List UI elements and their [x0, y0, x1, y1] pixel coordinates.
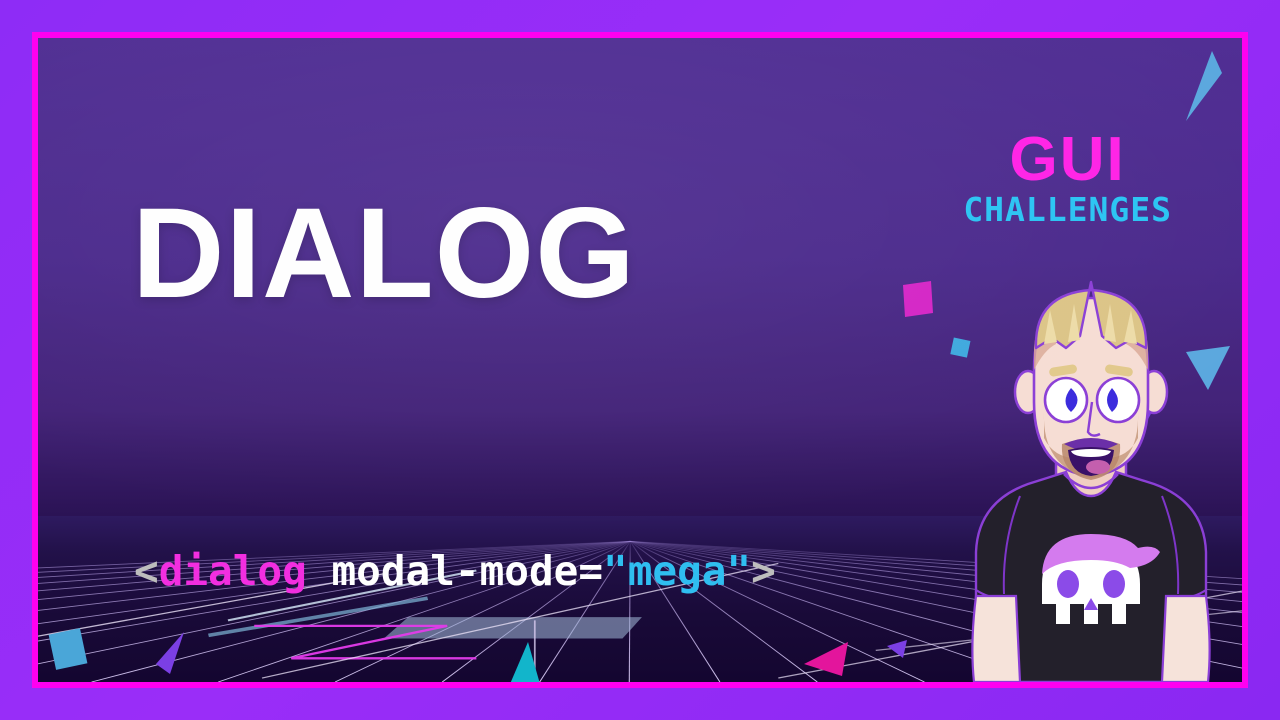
purple-triangle-bottom-left-icon	[148, 626, 198, 682]
code-attr-name: modal-mode	[331, 547, 578, 595]
code-tag-name: dialog	[159, 547, 307, 595]
code-sample: <dialog modal-mode="mega"> <dialog modal…	[134, 431, 776, 682]
magenta-frame-border: DIALOG <dialog modal-mode="mega"> <dialo…	[32, 32, 1248, 688]
code-equals: =	[578, 547, 603, 595]
brand-logo: GUI CHALLENGES	[963, 130, 1172, 228]
code-quote-close: "	[726, 547, 751, 595]
code-quote-open: "	[603, 547, 628, 595]
brand-logo-gui: GUI	[963, 130, 1172, 190]
code-open-bracket: <	[134, 547, 159, 595]
avatar-illustration	[916, 252, 1242, 682]
blue-square-bottom-left-icon	[44, 623, 98, 681]
page-title: DIALOG	[132, 190, 636, 318]
code-attr-value: mega	[628, 547, 727, 595]
purple-triangle-bottom-right-icon	[883, 636, 913, 666]
cyan-triangle-bottom-icon	[506, 638, 552, 682]
thumbnail-root: DIALOG <dialog modal-mode="mega"> <dialo…	[0, 0, 1280, 720]
brand-logo-challenges: CHALLENGES	[963, 192, 1172, 228]
blue-sliver-top-right-icon	[1168, 43, 1238, 133]
scene-background: DIALOG <dialog modal-mode="mega"> <dialo…	[38, 38, 1242, 682]
code-line-mega: <dialog modal-mode="mega">	[134, 543, 776, 599]
magenta-triangle-bottom-icon	[800, 638, 854, 682]
code-space	[307, 547, 332, 595]
code-close-bracket: >	[751, 547, 776, 595]
avatar	[916, 252, 1242, 682]
